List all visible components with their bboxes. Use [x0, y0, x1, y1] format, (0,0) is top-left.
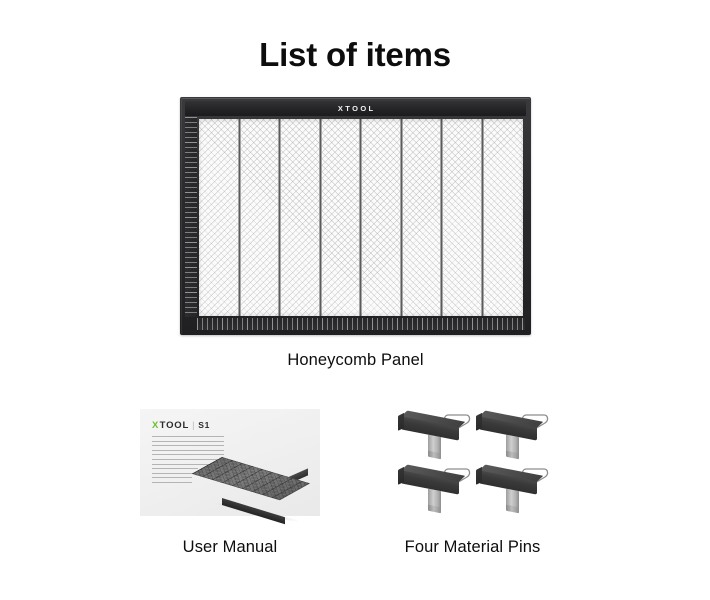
render-top-face [192, 457, 310, 500]
render-support-strips [192, 457, 310, 500]
panel-top-rail: XTOOL [185, 101, 526, 116]
render-front-edge [222, 498, 285, 524]
honeycomb-mesh-bed [199, 119, 523, 316]
material-pin [400, 464, 478, 514]
manual-text-line: Manuale utente del pannello a nido d'ape [152, 454, 224, 455]
manual-cover-panel-render [212, 457, 312, 509]
pin-peg [428, 435, 441, 457]
manual-logo-separator: | [192, 420, 195, 430]
manual-text-line: Honeycomb Panel User Manual [152, 436, 224, 437]
support-bar [238, 119, 241, 316]
manual-logo: X TOOL | S1 [152, 420, 210, 431]
support-bar [440, 119, 443, 316]
caption-user-manual: User Manual [120, 538, 340, 557]
pin-peg [428, 489, 441, 511]
honeycomb-panel-figure: XTOOL [180, 97, 531, 335]
manual-text-line: 蜂窝板使用说明书 [152, 477, 192, 478]
manual-text-line: Manual de usuario del panel de panal [152, 445, 224, 446]
caption-material-pins: Four Material Pins [360, 538, 585, 557]
support-bar [359, 119, 362, 316]
material-pins-figure [398, 408, 558, 518]
support-bar [400, 119, 403, 316]
manual-logo-x-mark: X [152, 420, 159, 431]
pin-peg-tip [506, 505, 519, 514]
ruler-bottom-ticks [197, 318, 525, 330]
material-pin [478, 410, 556, 460]
pin-body-end-cap [476, 413, 482, 431]
material-pin [400, 410, 478, 460]
ruler-bottom [197, 318, 525, 330]
manual-logo-model: S1 [198, 420, 210, 430]
manual-text-line: 蜂窩板使用說明書 [152, 482, 192, 483]
user-manual-card: X TOOL | S1 Honeycomb Panel User Manual … [140, 409, 320, 516]
page-title: List of items [0, 36, 710, 74]
pin-body-end-cap [398, 467, 404, 485]
user-manual-figure: X TOOL | S1 Honeycomb Panel User Manual … [140, 409, 320, 516]
manual-text-line: Manuel d'utilisation du panneau alveole [152, 450, 224, 451]
pin-peg-tip [428, 505, 441, 514]
pin-peg [506, 489, 519, 511]
support-bar [319, 119, 322, 316]
material-pin [478, 464, 556, 514]
manual-text-line: Wabenplatte Benutzerhandbuch [152, 441, 224, 442]
honeycomb-panel-frame: XTOOL [180, 97, 531, 335]
pin-body-end-cap [476, 467, 482, 485]
caption-honeycomb-panel: Honeycomb Panel [180, 351, 531, 370]
manual-logo-wordmark: TOOL [160, 420, 189, 431]
pin-peg-tip [506, 451, 519, 460]
ruler-left-ticks [185, 117, 197, 317]
support-bar [278, 119, 281, 316]
support-bar [481, 119, 484, 316]
ruler-left [185, 117, 197, 317]
pin-body-end-cap [398, 413, 404, 431]
xtool-brand-label: XTOOL [335, 104, 375, 113]
pin-peg-tip [428, 451, 441, 460]
manual-text-line: ハニカムパネル取扱説明書 [152, 468, 198, 469]
pin-peg [506, 435, 519, 457]
